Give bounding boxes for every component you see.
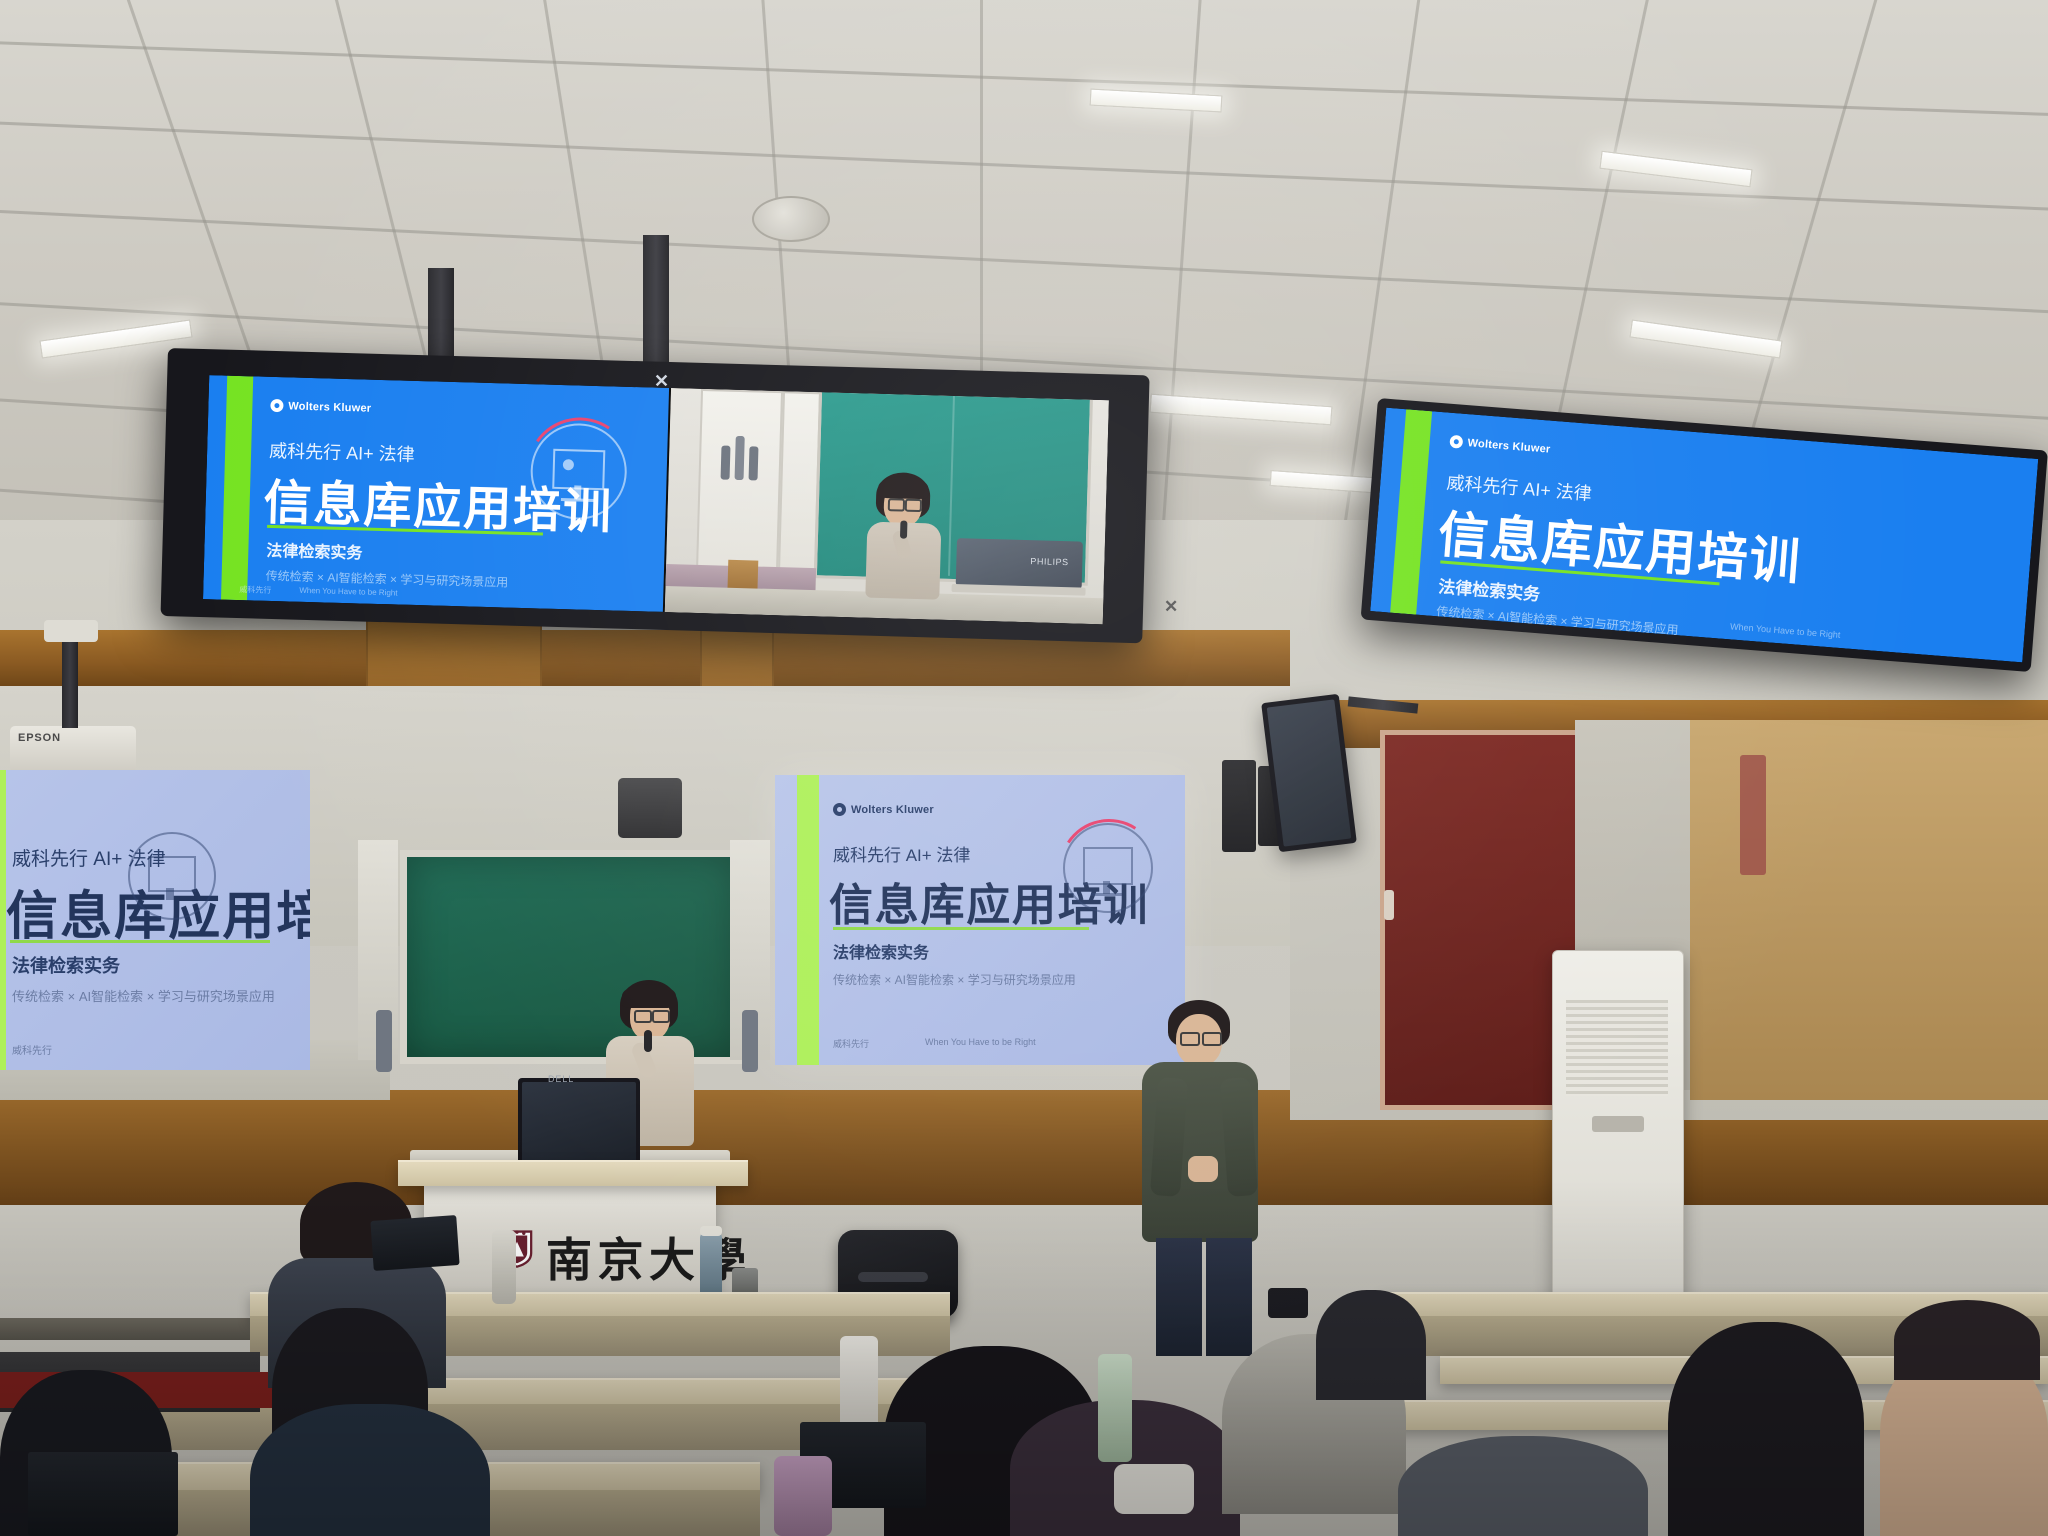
wolters-kluwer-logo-mark: [270, 399, 283, 412]
illustration-base: [1091, 893, 1122, 896]
slide-fineprint: 传统检索 × AI智能检索 × 学习与研究场景应用: [12, 986, 275, 1005]
brand-lockup: Wolters Kluwer: [833, 803, 934, 816]
slide-subtitle: 法律检索实务: [266, 537, 363, 564]
feed-mic-c: [749, 446, 759, 480]
attendee-laptop: [370, 1215, 459, 1271]
foreground-cup: [774, 1456, 832, 1536]
slide-footer-right: When You Have to be Right: [925, 1037, 1036, 1047]
door-handle[interactable]: [1384, 890, 1394, 920]
illustration-stand: [166, 888, 174, 900]
feed-presenter-glasses: [905, 499, 922, 512]
wall-projection-screen-left: 威科先行 AI+ 法律 信息库应用培训 法律检索实务 传统检索 × AI智能检索…: [0, 770, 310, 1070]
audience-head: [1668, 1322, 1864, 1536]
speaker-hands: [1188, 1156, 1218, 1182]
projector-mount: [62, 636, 78, 728]
water-bottle: [492, 1230, 516, 1304]
audience-head: [1316, 1290, 1426, 1400]
slide-fineprint: 传统检索 × AI智能检索 × 学习与研究场景应用: [833, 971, 1076, 988]
feed-microphone: [900, 521, 907, 539]
illustration-screen-icon: [552, 449, 605, 490]
slide-footer-right: When You Have to be Right: [1730, 621, 1841, 640]
wall-projection-screen: Wolters Kluwer 威科先行 AI+ 法律 信息库应用培训 法律检索实…: [775, 775, 1185, 1065]
desk-monitor: [518, 1078, 640, 1166]
slide-eyebrow: 威科先行 AI+ 法律: [833, 841, 970, 866]
slide-subtitle: 法律检索实务: [1438, 572, 1542, 605]
ceiling-light: [1150, 394, 1333, 426]
wolters-kluwer-logo-mark: [1449, 435, 1463, 449]
ceiling-light: [1599, 151, 1752, 187]
gloves: [1114, 1464, 1194, 1514]
ceiling-light: [1090, 89, 1223, 113]
feed-mic-a: [721, 445, 731, 479]
live-camera-feed: PHILIPS: [665, 388, 1109, 624]
brand-name: Wolters Kluwer: [1467, 437, 1551, 455]
av-control-box: [618, 778, 682, 838]
air-conditioner-vent: [1566, 1000, 1668, 1096]
audience-head: [1894, 1300, 2040, 1380]
monitor-screen: Wolters Kluwer 威科先行 AI+ 法律 信息库应用培训 法律检索实…: [203, 375, 1109, 624]
speaker-trousers: [1206, 1238, 1252, 1356]
slide-subtitle: 法律检索实务: [833, 939, 929, 963]
chalkboard: [400, 850, 744, 1064]
ceiling-vent: [752, 196, 830, 242]
air-conditioner-display: [1592, 1116, 1644, 1132]
ceiling-light: [1629, 320, 1782, 359]
ceiling-mounted-monitor: Wolters Kluwer 威科先行 AI+ 法律 信息库应用培训 法律检索实…: [161, 348, 1150, 643]
feed-laptop-brand: PHILIPS: [1030, 556, 1069, 567]
wolters-kluwer-logo-mark: [833, 803, 846, 816]
desk-monitor-brand-label: DELL: [548, 1074, 574, 1084]
speaker-trousers: [1156, 1238, 1202, 1356]
illustration-screen-icon: [148, 856, 196, 892]
feed-presenter-glasses: [888, 498, 905, 511]
slide-footer-left: 威科先行: [239, 584, 271, 596]
lecture-hall-photo: EPSON 威科先行 AI+ 法律 信息库应用培训 法律检索实务 传统检索 × …: [0, 0, 2048, 1536]
presenter-glasses: [652, 1010, 670, 1023]
bottle-cap: [700, 1226, 722, 1236]
slide-footer-left: 威科先行: [833, 1037, 869, 1050]
close-icon[interactable]: ✕: [654, 372, 669, 390]
slide-footer-right: When You Have to be Right: [299, 586, 398, 598]
slide-eyebrow: 威科先行 AI+ 法律: [269, 437, 415, 467]
audience-head: [250, 1404, 490, 1536]
brand-lockup: Wolters Kluwer: [270, 399, 371, 415]
audience-head: [1398, 1436, 1648, 1536]
brand-lockup: Wolters Kluwer: [1449, 435, 1551, 456]
thermos-bottle: [700, 1232, 722, 1300]
door[interactable]: [1380, 730, 1580, 1110]
illustration-screen-icon: [1083, 847, 1133, 885]
brand-name: Wolters Kluwer: [288, 400, 371, 414]
phone-recording[interactable]: [1268, 1288, 1308, 1318]
feed-mic-b: [735, 436, 745, 480]
slide-footer-left: 威科先行: [12, 1042, 52, 1057]
brand-name: Wolters Kluwer: [851, 804, 934, 816]
speaker-glasses: [1202, 1032, 1222, 1046]
mic-stand: [742, 1010, 758, 1072]
close-icon[interactable]: ✕: [1164, 598, 1178, 615]
slide-overhead: Wolters Kluwer 威科先行 AI+ 法律 信息库应用培训 法律检索实…: [203, 375, 669, 612]
wall-speaker: [1222, 760, 1256, 852]
backpack-strap: [858, 1272, 928, 1282]
thermos-foreground: [1098, 1354, 1132, 1462]
handheld-microphone: [644, 1030, 652, 1052]
stage-table: [398, 1160, 748, 1186]
foreground-laptop: [28, 1452, 178, 1536]
mic-stand: [376, 1010, 392, 1072]
slide-subtitle: 法律检索实务: [12, 952, 120, 978]
slide-right-monitor: Wolters Kluwer 威科先行 AI+ 法律 信息库应用培训 法律检索实…: [1370, 408, 2038, 663]
projector-brand-label: EPSON: [18, 732, 61, 744]
wall-sign: [1740, 755, 1766, 875]
projector-ceiling-plate: [44, 620, 98, 642]
presenter-glasses: [634, 1010, 652, 1023]
speaker-glasses: [1180, 1032, 1200, 1046]
